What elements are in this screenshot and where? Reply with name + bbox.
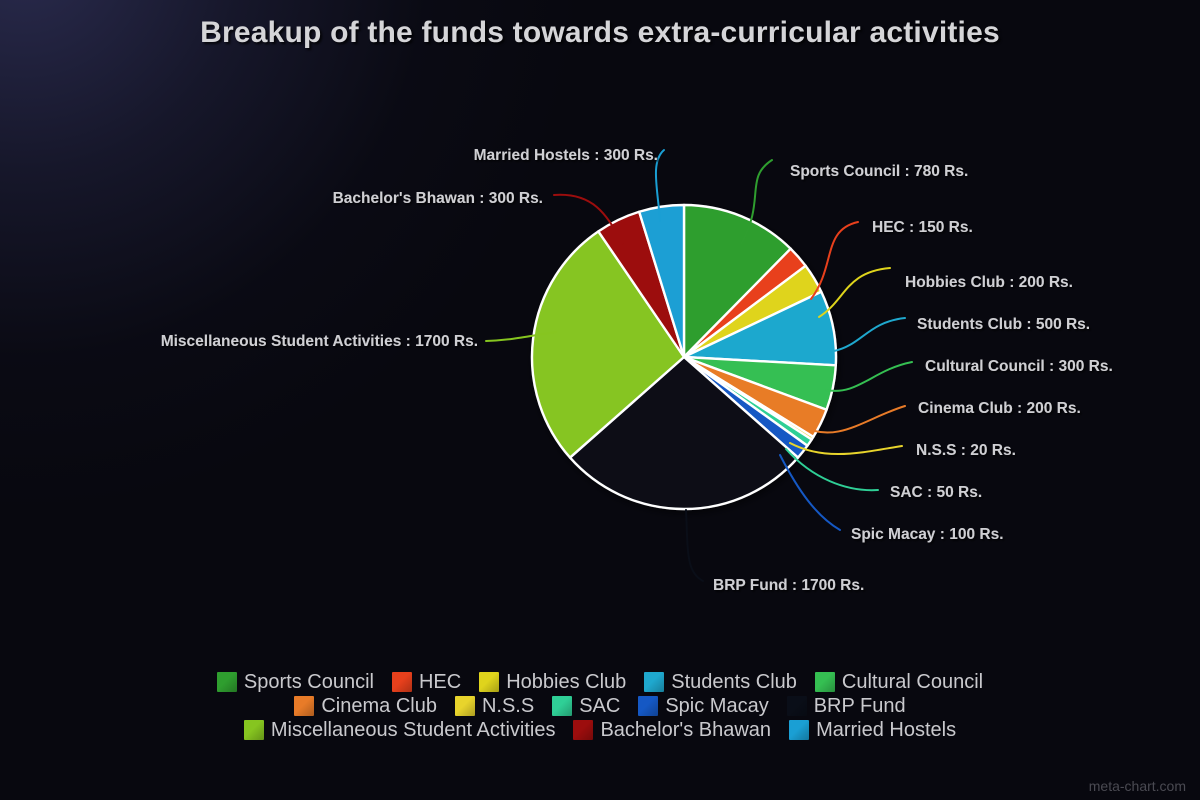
legend-row: Sports CouncilHECHobbies ClubStudents Cl… bbox=[217, 672, 983, 692]
legend-label: Hobbies Club bbox=[506, 672, 626, 692]
legend-label: Married Hostels bbox=[816, 720, 956, 740]
legend-swatch-icon bbox=[455, 696, 475, 716]
pie-slices: Sports Council : 780 Rs.HEC : 150 Rs.Hob… bbox=[532, 205, 836, 509]
legend-label: Students Club bbox=[671, 672, 797, 692]
legend-swatch-icon bbox=[789, 720, 809, 740]
legend-item[interactable]: Sports Council bbox=[217, 672, 374, 692]
legend-swatch-icon bbox=[573, 720, 593, 740]
page-title: Breakup of the funds towards extra-curri… bbox=[0, 16, 1200, 50]
slice-label: Students Club : 500 Rs. bbox=[917, 316, 1090, 333]
slice-label: Married Hostels : 300 Rs. bbox=[474, 147, 658, 164]
leader-line bbox=[834, 318, 905, 351]
legend-label: SAC bbox=[579, 696, 620, 716]
legend-label: Cultural Council bbox=[842, 672, 983, 692]
legend-swatch-icon bbox=[644, 672, 664, 692]
slice-label: HEC : 150 Rs. bbox=[872, 219, 973, 236]
legend-item[interactable]: SAC bbox=[552, 696, 620, 716]
legend-label: N.S.S bbox=[482, 696, 534, 716]
watermark: meta-chart.com bbox=[1089, 778, 1186, 794]
legend-label: Cinema Club bbox=[321, 696, 437, 716]
leader-line bbox=[686, 510, 703, 581]
slice-label: Hobbies Club : 200 Rs. bbox=[905, 274, 1073, 291]
legend-row: Miscellaneous Student ActivitiesBachelor… bbox=[244, 720, 956, 740]
slice-label: Cultural Council : 300 Rs. bbox=[925, 358, 1113, 375]
slice-label: Miscellaneous Student Activities : 1700 … bbox=[161, 333, 478, 350]
legend-item[interactable]: Bachelor's Bhawan bbox=[573, 720, 771, 740]
legend-swatch-icon bbox=[217, 672, 237, 692]
legend-swatch-icon bbox=[294, 696, 314, 716]
legend-item[interactable]: HEC bbox=[392, 672, 461, 692]
slice-label: Spic Macay : 100 Rs. bbox=[851, 526, 1004, 543]
legend-label: HEC bbox=[419, 672, 461, 692]
slice-label: Bachelor's Bhawan : 300 Rs. bbox=[333, 190, 543, 207]
legend-item[interactable]: Hobbies Club bbox=[479, 672, 626, 692]
legend-item[interactable]: Cinema Club bbox=[294, 696, 437, 716]
legend-item[interactable]: Married Hostels bbox=[789, 720, 956, 740]
leader-line bbox=[819, 268, 890, 317]
chart-canvas: Breakup of the funds towards extra-curri… bbox=[0, 0, 1200, 800]
legend-label: Bachelor's Bhawan bbox=[600, 720, 771, 740]
legend-item[interactable]: N.S.S bbox=[455, 696, 534, 716]
legend-label: BRP Fund bbox=[814, 696, 906, 716]
legend: Sports CouncilHECHobbies ClubStudents Cl… bbox=[0, 672, 1200, 740]
legend-swatch-icon bbox=[479, 672, 499, 692]
legend-swatch-icon bbox=[552, 696, 572, 716]
slice-label: SAC : 50 Rs. bbox=[890, 484, 982, 501]
legend-item[interactable]: Miscellaneous Student Activities bbox=[244, 720, 556, 740]
slice-label: N.S.S : 20 Rs. bbox=[916, 442, 1016, 459]
slice-label: Cinema Club : 200 Rs. bbox=[918, 400, 1081, 417]
legend-label: Sports Council bbox=[244, 672, 374, 692]
slice-label: BRP Fund : 1700 Rs. bbox=[713, 577, 864, 594]
legend-swatch-icon bbox=[244, 720, 264, 740]
legend-row: Cinema ClubN.S.SSACSpic MacayBRP Fund bbox=[294, 696, 905, 716]
legend-label: Miscellaneous Student Activities bbox=[271, 720, 556, 740]
legend-item[interactable]: Spic Macay bbox=[638, 696, 768, 716]
legend-swatch-icon bbox=[787, 696, 807, 716]
legend-swatch-icon bbox=[392, 672, 412, 692]
legend-swatch-icon bbox=[815, 672, 835, 692]
legend-label: Spic Macay bbox=[665, 696, 768, 716]
legend-item[interactable]: Cultural Council bbox=[815, 672, 983, 692]
leader-line bbox=[826, 362, 912, 391]
legend-item[interactable]: Students Club bbox=[644, 672, 797, 692]
legend-item[interactable]: BRP Fund bbox=[787, 696, 906, 716]
slice-label: Sports Council : 780 Rs. bbox=[790, 163, 968, 180]
legend-swatch-icon bbox=[638, 696, 658, 716]
leader-line bbox=[811, 222, 858, 299]
